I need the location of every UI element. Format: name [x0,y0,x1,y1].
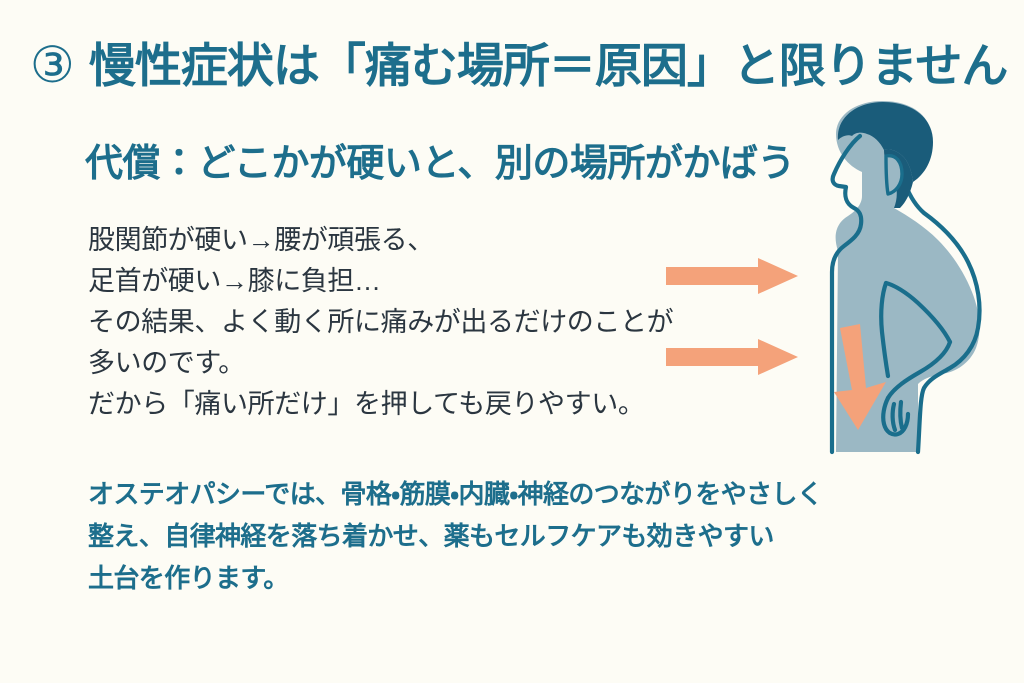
body-line: だから「痛い所だけ」を押しても戻りやすい。 [88,384,688,425]
highlight-paragraph: オステオパシーでは、骨格・筋膜・内臓・神経のつながりをやさしく 整え、自律神経を… [88,473,918,599]
body-line: その結果、よく動く所に痛みが出るだけのことが [88,302,688,343]
title-number-badge: ③ [30,40,75,90]
title-heading-text: 慢性症状は「痛む場所＝原因」と限りません [89,42,1008,89]
body-line: 多いのです。 [88,343,688,384]
highlight-line: オステオパシーでは、骨格・筋膜・内臓・神経のつながりをやさしく [88,473,918,515]
body-line: 股関節が硬い→腰が頑張る、 [88,220,688,261]
body-line: 足首が硬い→膝に負担… [88,261,688,302]
body-paragraph: 股関節が硬い→腰が頑張る、 足首が硬い→膝に負担… その結果、よく動く所に痛みが… [88,220,688,425]
subtitle-heading: 代償：どこかが硬いと、別の場所がかばう [85,143,795,187]
highlight-line: 土台を作ります。 [88,557,918,599]
man-side-profile-illustration [782,100,1024,460]
slide-canvas: ③ 慢性症状は「痛む場所＝原因」と限りません 代償：どこかが硬いと、別の場所がか… [0,0,1024,683]
highlight-line: 整え、自律神経を落ち着かせ、薬もセルフケアも効きやすい [88,515,918,557]
page-title: ③ 慢性症状は「痛む場所＝原因」と限りません [30,40,1010,90]
